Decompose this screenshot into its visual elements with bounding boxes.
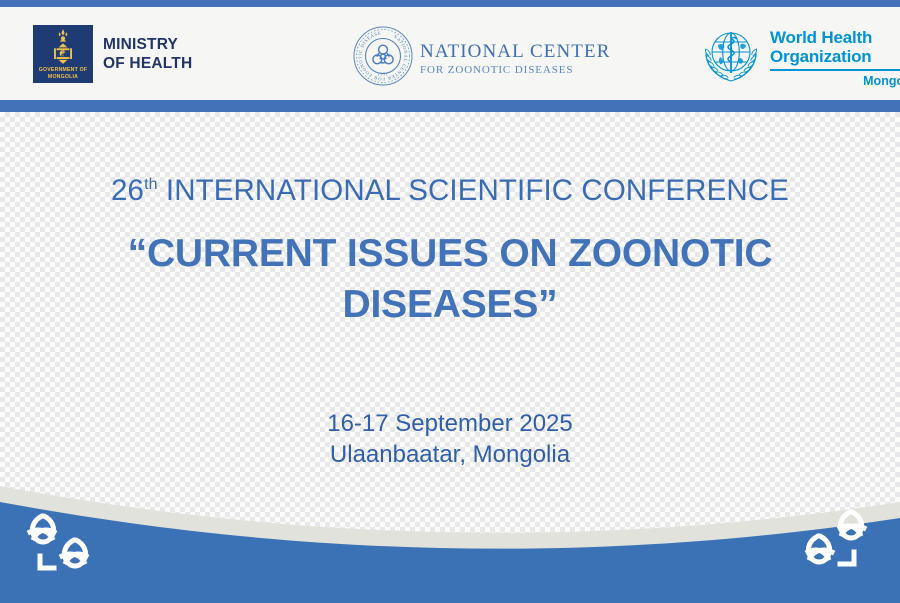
ministry-of-health-name: MINISTRY OF HEALTH: [103, 35, 192, 73]
who-divider: [770, 69, 900, 71]
logo-row: GOVERNMENT OF MONGOLIA MINISTRY OF HEALT…: [0, 7, 900, 100]
nczd-name-line1: NATIONAL CENTER: [420, 42, 610, 61]
headline-rest: INTERNATIONAL SCIENTIFIC CONFERENCE: [158, 174, 789, 207]
headline-ordinal-suffix: th: [144, 176, 158, 193]
ministry-name-line1: MINISTRY: [103, 35, 192, 54]
who-name-line1: World Health: [770, 29, 900, 48]
who-name-block: World Health Organization Mongolia: [770, 29, 900, 88]
crest-caption-line1: GOVERNMENT OF: [33, 67, 93, 74]
conference-edition-headline: 26th INTERNATIONAL SCIENTIFIC CONFERENCE: [0, 174, 900, 208]
headline-number: 26: [111, 174, 144, 207]
conference-date: 16-17 September 2025: [0, 408, 900, 439]
bottom-wave-decoration: [0, 458, 900, 603]
nczd-name-line2: FOR ZOONOTIC DISEASES: [420, 65, 610, 76]
crest-caption: GOVERNMENT OF MONGOLIA: [33, 67, 93, 81]
logo-ministry-of-health: GOVERNMENT OF MONGOLIA MINISTRY OF HEALT…: [33, 25, 192, 83]
logo-national-center-zoonotic-diseases: NATIONAL CENTER FOR ZOONOTIC DISEASES 19…: [352, 25, 610, 92]
crest-caption-line2: MONGOLIA: [33, 74, 93, 81]
who-emblem-icon: [700, 25, 762, 92]
header-divider-bar: [0, 100, 900, 112]
ministry-name-line2: OF HEALTH: [103, 54, 192, 73]
who-country-label: Mongolia: [770, 74, 900, 88]
svg-text:1951: 1951: [378, 72, 389, 77]
conference-title: “CURRENT ISSUES ON ZOONOTIC DISEASES”: [60, 228, 840, 330]
who-name-line2: Organization: [770, 48, 900, 67]
logo-world-health-organization: World Health Organization Mongolia: [700, 25, 900, 92]
government-of-mongolia-crest: GOVERNMENT OF MONGOLIA: [33, 25, 93, 83]
nczd-name: NATIONAL CENTER FOR ZOONOTIC DISEASES: [420, 42, 610, 76]
nczd-seal-icon: NATIONAL CENTER FOR ZOONOTIC DISEASES 19…: [352, 25, 414, 92]
top-accent-bar: [0, 0, 900, 7]
conference-title-slide: GOVERNMENT OF MONGOLIA MINISTRY OF HEALT…: [0, 0, 900, 603]
